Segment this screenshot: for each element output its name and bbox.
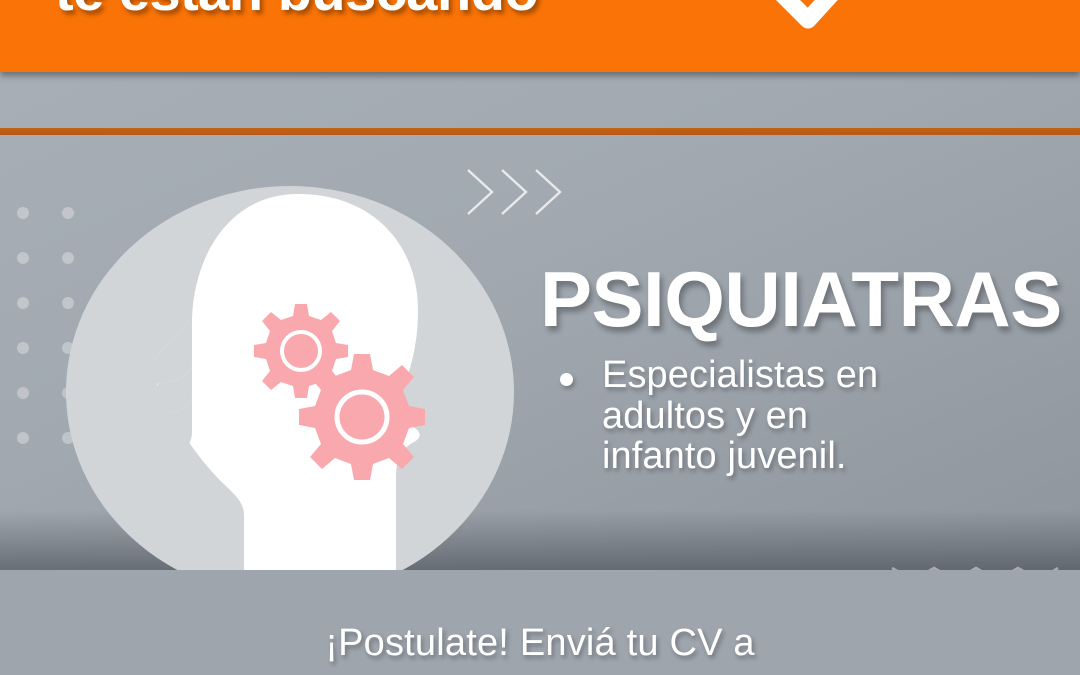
grid-dot bbox=[17, 342, 29, 354]
grid-dot bbox=[17, 207, 29, 219]
banner-content: te están buscando bbox=[0, 0, 1080, 72]
bullet-point-icon bbox=[560, 373, 573, 386]
zigzag-waves-icon bbox=[890, 560, 1060, 570]
gear-large bbox=[299, 354, 425, 480]
bullet-list: Especialistas en adultos y en infanto ju… bbox=[560, 355, 1020, 477]
job-posting-poster: PSIQUIATRAS Especialistas en adultos y e… bbox=[0, 0, 1080, 675]
page-title: PSIQUIATRAS bbox=[540, 260, 1062, 338]
bullet-text: Especialistas en adultos y en infanto ju… bbox=[602, 355, 878, 477]
banner-title: te están buscando bbox=[55, 0, 538, 23]
banner-bottom-edge bbox=[0, 128, 1080, 135]
grid-dot bbox=[17, 387, 29, 399]
footer-section: ¡Postulate! Enviá tu CV a bbox=[0, 570, 1080, 675]
head-silhouette-svg bbox=[66, 186, 514, 570]
grid-dot bbox=[17, 252, 29, 264]
grid-dot bbox=[17, 297, 29, 309]
head-with-gears-illustration bbox=[66, 186, 514, 570]
list-item: Especialistas en adultos y en infanto ju… bbox=[560, 355, 1020, 477]
check-icon bbox=[770, 0, 880, 36]
grid-dot bbox=[17, 432, 29, 444]
cta-text: ¡Postulate! Enviá tu CV a bbox=[0, 620, 1080, 667]
main-panel: PSIQUIATRAS Especialistas en adultos y e… bbox=[0, 72, 1080, 570]
top-banner: te están buscando bbox=[0, 0, 1080, 72]
